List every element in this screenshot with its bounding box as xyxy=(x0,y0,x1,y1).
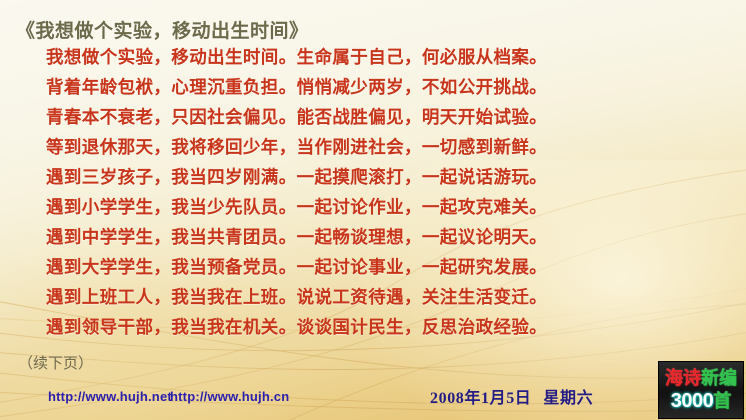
poem-line: 遇到上班工人，我当我在上班。说说工资待遇，关注生活变迁。 xyxy=(46,282,706,312)
brand-name-primary: 海诗 xyxy=(665,368,701,388)
poem-line: 背着年龄包袱，心理沉重负担。悄悄减少两岁，不如公开挑战。 xyxy=(46,72,706,102)
weekday-value: 星期六 xyxy=(543,390,593,407)
date-value: 2008年1月5日 xyxy=(430,390,531,407)
poem-body: 我想做个实验，移动出生时间。生命属于自己，何必服从档案。 背着年龄包袱，心理沉重… xyxy=(46,42,706,342)
brand-badge: 海诗新编 3000首 xyxy=(658,361,744,419)
brand-name: 海诗新编 xyxy=(665,367,737,389)
poem-line: 遇到小学学生，我当少先队员。一起讨论作业，一起攻克难关。 xyxy=(46,192,706,222)
poem-line: 青春本不衰老，只因社会偏见。能否战胜偏见，明天开始试验。 xyxy=(46,102,706,132)
poem-line: 遇到领导干部，我当我在机关。谈谈国计民生，反思治政经验。 xyxy=(46,312,706,342)
brand-count-number: 3000 xyxy=(671,390,714,412)
brand-name-secondary: 新编 xyxy=(701,368,737,388)
continued-note: （续下页） xyxy=(18,352,93,373)
brand-count: 3000首 xyxy=(671,389,732,413)
footer-date: 2008年1月5日星期六 xyxy=(430,384,593,408)
poem-line: 遇到三岁孩子，我当四岁刚满。一起摸爬滚打，一起说话游玩。 xyxy=(46,162,706,192)
website-link-cn[interactable]: http://www.hujh.cn xyxy=(170,389,289,404)
poem-line: 遇到大学学生，我当预备党员。一起讨论事业，一起研究发展。 xyxy=(46,252,706,282)
website-link-net[interactable]: http://www.hujh.net xyxy=(48,389,172,404)
poem-line: 遇到中学学生，我当共青团员。一起畅谈理想，一起议论明天。 xyxy=(46,222,706,252)
slide-canvas: 《我想做个实验，移动出生时间》 我想做个实验，移动出生时间。生命属于自己，何必服… xyxy=(0,0,746,420)
brand-count-unit: 首 xyxy=(713,391,731,411)
poem-line: 等到退休那天，我将移回少年，当作刚进社会，一切感到新鲜。 xyxy=(46,132,706,162)
poem-line: 我想做个实验，移动出生时间。生命属于自己，何必服从档案。 xyxy=(46,42,706,72)
page-title: 《我想做个实验，移动出生时间》 xyxy=(16,16,309,43)
